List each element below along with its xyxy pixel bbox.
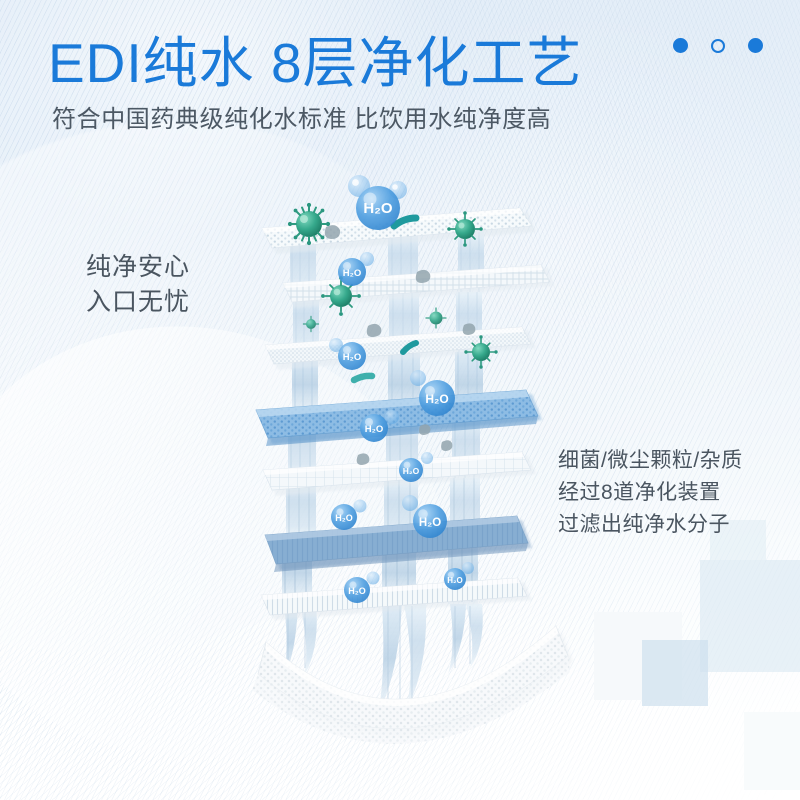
svg-text:H₂O: H₂O [363, 200, 392, 217]
svg-text:H₂O: H₂O [343, 352, 361, 363]
svg-text:H₂O: H₂O [348, 586, 366, 596]
svg-text:H₂O: H₂O [403, 466, 420, 476]
svg-text:H₂O: H₂O [447, 576, 463, 585]
svg-text:H₂O: H₂O [419, 517, 441, 529]
svg-text:H₂O: H₂O [335, 513, 353, 523]
svg-text:H₂O: H₂O [343, 268, 361, 279]
dot-hollow-icon[interactable] [711, 39, 725, 53]
page-subtitle: 符合中国药典级纯化水标准 比饮用水纯净度高 [52, 108, 551, 132]
svg-text:H₂O: H₂O [365, 424, 383, 435]
carousel-dots[interactable] [673, 38, 763, 53]
page-title: EDI纯水 8层净化工艺 [48, 36, 583, 91]
svg-text:H₂O: H₂O [425, 392, 448, 406]
dot-filled-1-icon[interactable] [673, 38, 688, 53]
dot-filled-2-icon[interactable] [748, 38, 763, 53]
caption-right: 细菌/微尘颗粒/杂质 经过8道净化装置 过滤出纯净水分子 [558, 445, 743, 541]
poster-root: H₂O H₂O H₂O [0, 0, 800, 800]
caption-left: 纯净安心 入口无忧 [86, 250, 190, 319]
